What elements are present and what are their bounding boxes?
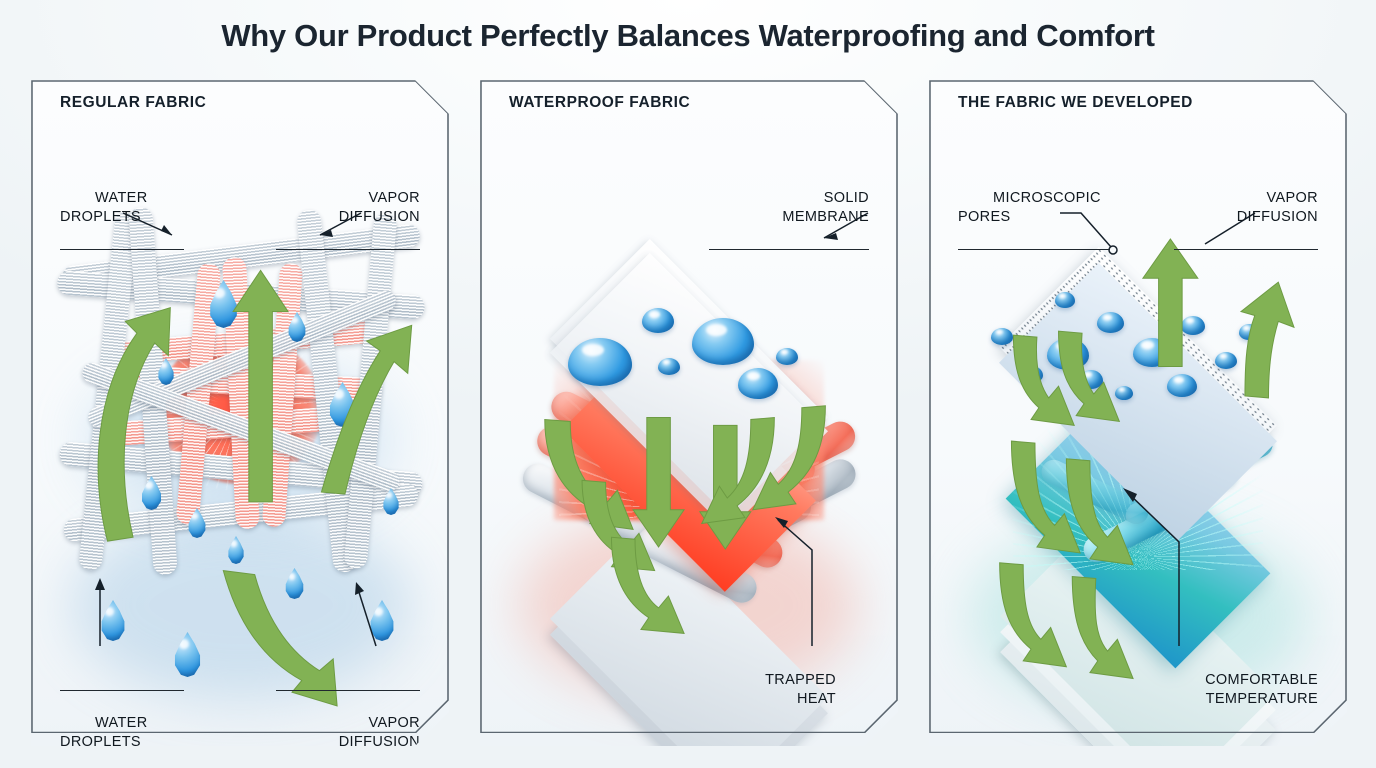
panel-title-regular: REGULAR FABRIC — [60, 94, 206, 112]
page-title: Why Our Product Perfectly Balances Water… — [0, 18, 1376, 54]
label-comfortable-temperature: COMFORTABLE TEMPERATURE — [1108, 652, 1318, 728]
label-vapor-diffusion: VAPOR DIFFUSION — [1158, 170, 1318, 288]
panel-row: REGULAR FABRIC WATER DROPLETS VAPOR DIFF… — [31, 80, 1347, 746]
label-vapor-diffusion-bottom: VAPOR DIFFUSION — [260, 652, 420, 746]
panel-title-developed: THE FABRIC WE DEVELOPED — [958, 94, 1193, 112]
label-vapor-diffusion-top: VAPOR DIFFUSION — [260, 170, 420, 288]
label-microscopic-pores: MICROSCOPIC PORES — [958, 170, 1128, 288]
panel-title-waterproof: WATERPROOF FABRIC — [509, 94, 690, 112]
label-trapped-heat: TRAPPED HEAT — [676, 652, 836, 728]
label-water-droplets-top: WATER DROPLETS — [60, 170, 200, 288]
infographic-canvas: Why Our Product Perfectly Balances Water… — [0, 0, 1376, 768]
panel-developed-fabric: THE FABRIC WE DEVELOPED MICROSCOPIC PORE… — [929, 80, 1347, 746]
panel-regular-fabric: REGULAR FABRIC WATER DROPLETS VAPOR DIFF… — [31, 80, 449, 746]
panel-waterproof-fabric: WATERPROOF FABRIC SOLID MEMBRANE TRAPPED… — [480, 80, 898, 746]
label-water-droplets-bottom: WATER DROPLETS — [60, 652, 200, 746]
label-solid-membrane: SOLID MEMBRANE — [689, 170, 869, 288]
